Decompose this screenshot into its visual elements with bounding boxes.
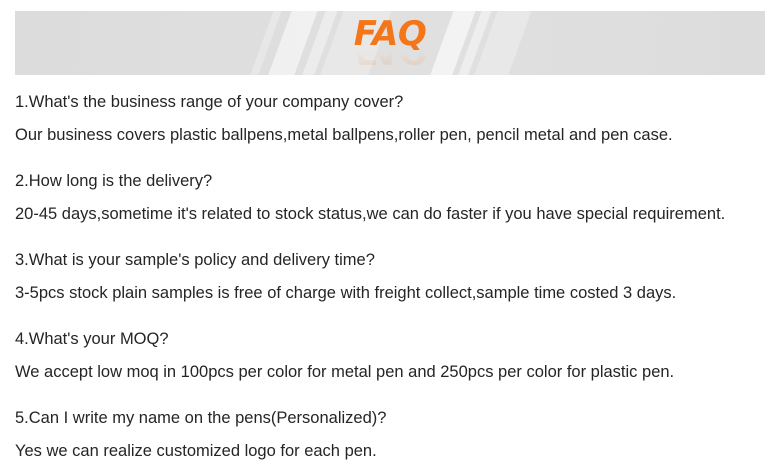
faq-page: FAQ FAQ 1.What's the business range of y… [0, 0, 770, 472]
faq-answer: We accept low moq in 100pcs per color fo… [15, 356, 755, 389]
faq-question: 5.Can I write my name on the pens(Person… [15, 402, 755, 435]
faq-list: 1.What's the business range of your comp… [15, 86, 755, 468]
faq-answer: 20-45 days,sometime it's related to stoc… [15, 198, 755, 231]
faq-answer: Yes we can realize customized logo for e… [15, 435, 755, 468]
faq-question: 4.What's your MOQ? [15, 323, 755, 356]
faq-answer: 3-5pcs stock plain samples is free of ch… [15, 277, 755, 310]
page-title: FAQ [354, 17, 427, 51]
faq-question: 2.How long is the delivery? [15, 165, 755, 198]
banner-title-group: FAQ FAQ [15, 11, 765, 75]
faq-question: 1.What's the business range of your comp… [15, 86, 755, 119]
faq-item: 4.What's your MOQ? We accept low moq in … [15, 323, 755, 389]
faq-item: 5.Can I write my name on the pens(Person… [15, 402, 755, 468]
faq-item: 2.How long is the delivery? 20-45 days,s… [15, 165, 755, 231]
page-title-reflection: FAQ [354, 52, 427, 68]
faq-answer: Our business covers plastic ballpens,met… [15, 119, 755, 152]
faq-item: 3.What is your sample's policy and deliv… [15, 244, 755, 310]
faq-question: 3.What is your sample's policy and deliv… [15, 244, 755, 277]
faq-item: 1.What's the business range of your comp… [15, 86, 755, 152]
faq-header-banner: FAQ FAQ [15, 11, 765, 75]
